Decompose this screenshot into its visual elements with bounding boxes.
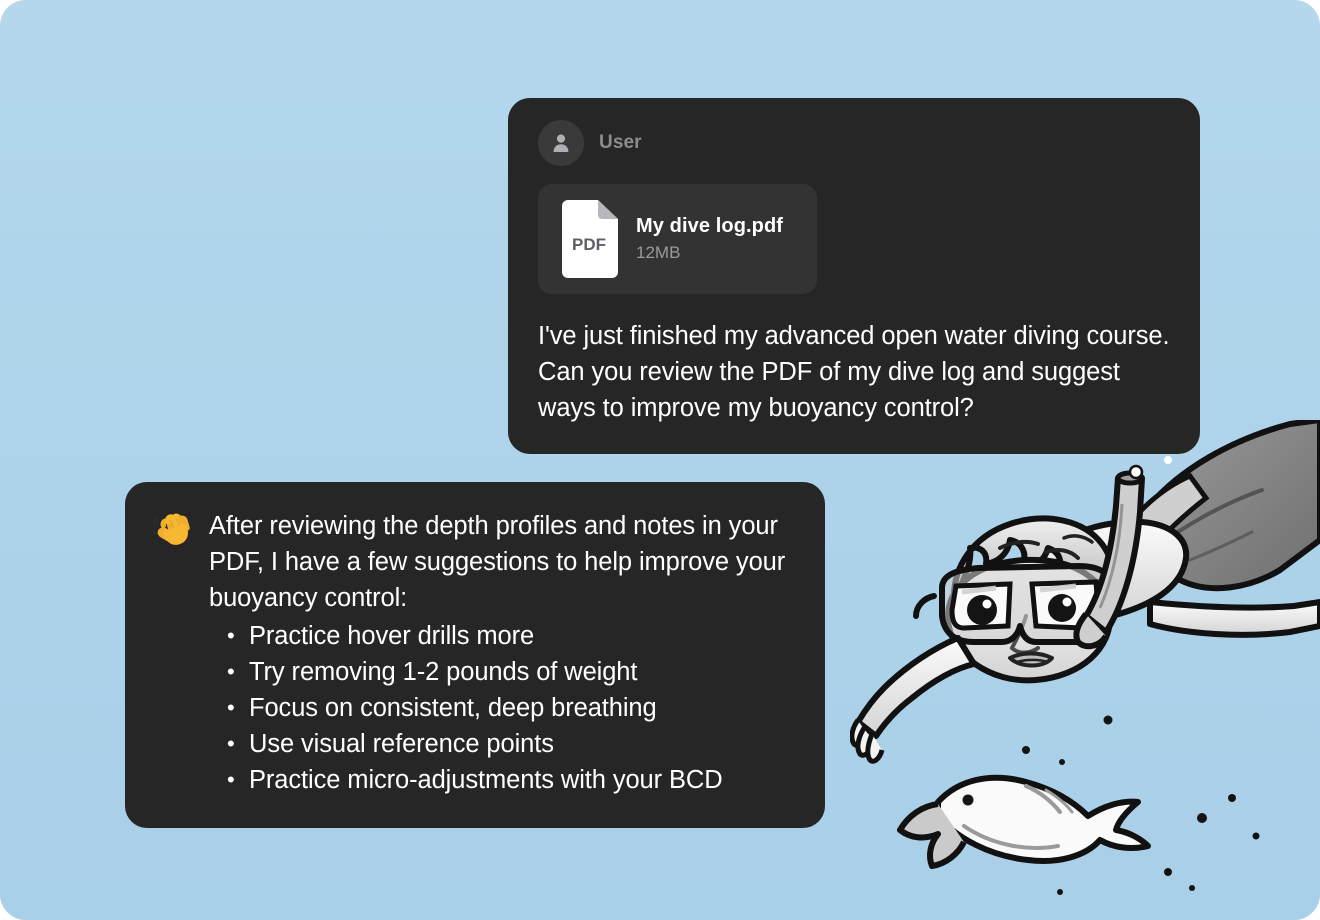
list-item: Use visual reference points bbox=[249, 726, 795, 762]
assistant-intro-text: After reviewing the depth profiles and n… bbox=[209, 508, 795, 616]
pdf-icon-label: PDF bbox=[572, 235, 606, 254]
list-item: Practice hover drills more bbox=[249, 618, 795, 654]
attachment-file-name: My dive log.pdf bbox=[636, 215, 783, 238]
user-message-bubble: User PDF My dive log.pdf 12MB I've just … bbox=[508, 98, 1200, 454]
screenshot-canvas: User PDF My dive log.pdf 12MB I've just … bbox=[0, 0, 1320, 920]
attachment-file-size: 12MB bbox=[636, 243, 783, 263]
user-message-text: I've just finished my advanced open wate… bbox=[538, 318, 1170, 426]
list-item: Try removing 1-2 pounds of weight bbox=[249, 654, 795, 690]
user-header: User bbox=[538, 120, 1170, 166]
list-item: Focus on consistent, deep breathing bbox=[249, 690, 795, 726]
suggestion-list: Practice hover drills more Try removing … bbox=[209, 618, 795, 798]
user-name-label: User bbox=[599, 132, 642, 154]
pdf-file-icon: PDF bbox=[556, 200, 618, 278]
waving-hand-icon bbox=[153, 510, 195, 550]
assistant-message-bubble: After reviewing the depth profiles and n… bbox=[125, 482, 825, 828]
list-item: Practice micro-adjustments with your BCD bbox=[249, 762, 795, 798]
attachment-card[interactable]: PDF My dive log.pdf 12MB bbox=[538, 184, 817, 294]
person-avatar-icon bbox=[538, 120, 584, 166]
